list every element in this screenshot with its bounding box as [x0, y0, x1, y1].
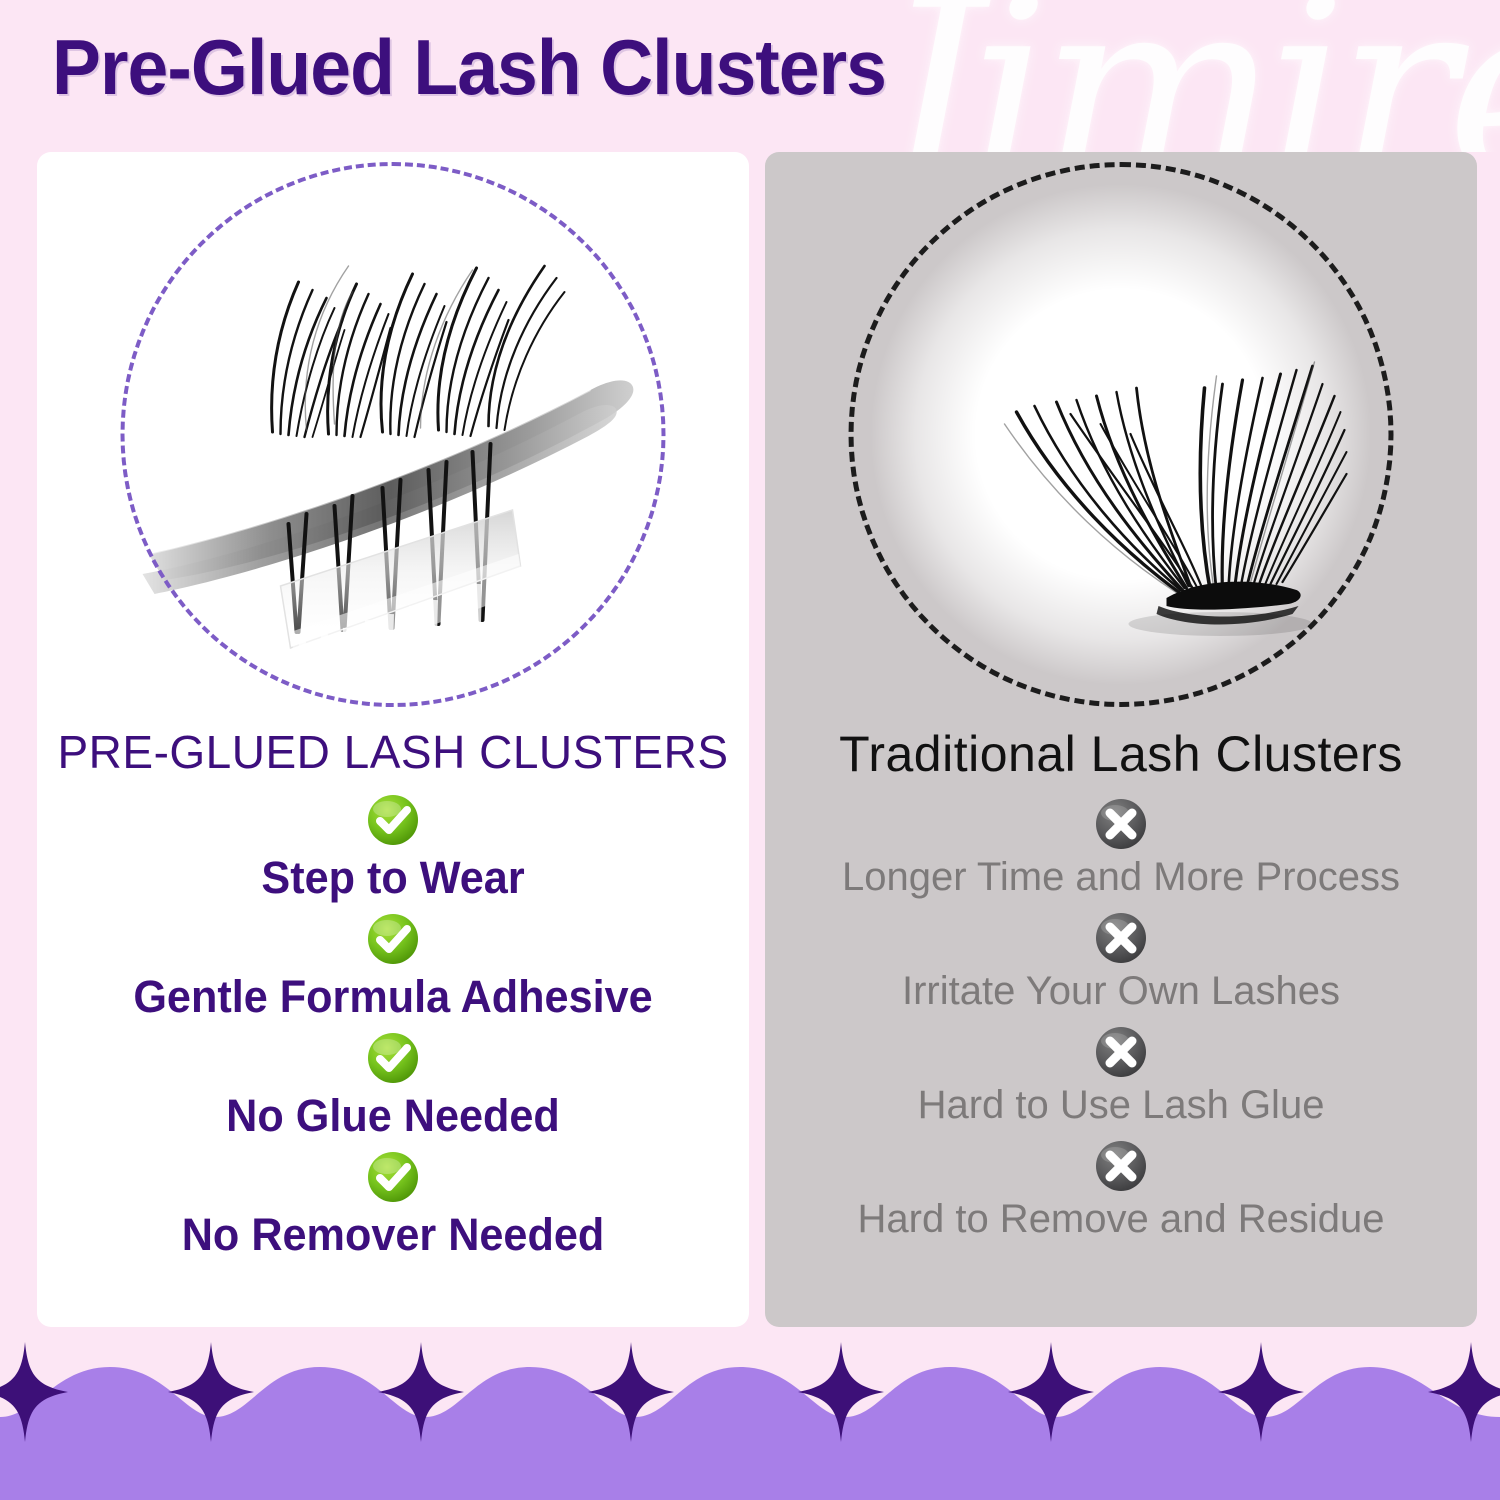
- sparkle-icon: [1008, 1342, 1094, 1442]
- panel-pre-glued: PRE-GLUED LASH CLUSTERS Step to Wear: [37, 152, 749, 1327]
- brand-wordmark: Jimire: [880, 0, 1500, 152]
- drawback-label: Longer Time and More Process: [765, 856, 1477, 898]
- header: Jimire Pre-Glued Lash Clusters: [0, 0, 1500, 152]
- check-circle-icon: [365, 1030, 421, 1086]
- product-comparison-infographic: Jimire Pre-Glued Lash Clusters: [0, 0, 1500, 1500]
- bottom-wave-band: [0, 1325, 1500, 1500]
- drawback-row: Hard to Remove and Residue: [765, 1138, 1477, 1240]
- cross-circle-icon: [1093, 1024, 1149, 1080]
- sparkle-icon: [1428, 1342, 1500, 1442]
- benefit-label: No Remover Needed: [51, 1211, 735, 1258]
- check-circle-icon: [365, 792, 421, 848]
- sparkle-icon: [798, 1342, 884, 1442]
- pre-glued-media: [121, 162, 666, 707]
- check-circle-icon: [365, 911, 421, 967]
- panel-traditional: Traditional Lash Clusters Longer Time an: [765, 152, 1477, 1327]
- sparkle-icon: [1218, 1342, 1304, 1442]
- traditional-heading: Traditional Lash Clusters: [765, 727, 1477, 782]
- benefit-label: Gentle Formula Adhesive: [51, 973, 735, 1020]
- benefit-row: Gentle Formula Adhesive: [37, 911, 749, 1020]
- drawback-label: Irritate Your Own Lashes: [765, 970, 1477, 1012]
- check-circle-icon: [365, 1149, 421, 1205]
- benefit-label: No Glue Needed: [51, 1092, 735, 1139]
- sparkle-icon: [378, 1342, 464, 1442]
- sparkle-icon: [168, 1342, 254, 1442]
- traditional-media: [849, 162, 1394, 707]
- benefit-row: No Glue Needed: [37, 1030, 749, 1139]
- benefit-label: Step to Wear: [51, 854, 735, 901]
- cross-circle-icon: [1093, 796, 1149, 852]
- dashed-circle-black: [849, 162, 1394, 707]
- drawback-label: Hard to Use Lash Glue: [765, 1084, 1477, 1126]
- sparkle-icon: [588, 1342, 674, 1442]
- pre-glued-benefit-list: PRE-GLUED LASH CLUSTERS Step to Wear: [37, 727, 749, 1259]
- dashed-circle-purple: [121, 162, 666, 707]
- cross-circle-icon: [1093, 1138, 1149, 1194]
- traditional-drawback-list: Traditional Lash Clusters Longer Time an: [765, 727, 1477, 1240]
- drawback-row: Irritate Your Own Lashes: [765, 910, 1477, 1012]
- sparkle-icon: [0, 1342, 68, 1442]
- drawback-row: Hard to Use Lash Glue: [765, 1024, 1477, 1126]
- drawback-row: Longer Time and More Process: [765, 796, 1477, 898]
- drawback-label: Hard to Remove and Residue: [765, 1198, 1477, 1240]
- benefit-row: Step to Wear: [37, 792, 749, 901]
- benefit-row: No Remover Needed: [37, 1149, 749, 1258]
- page-title: Pre-Glued Lash Clusters: [52, 22, 886, 113]
- pre-glued-heading: PRE-GLUED LASH CLUSTERS: [37, 727, 749, 778]
- cross-circle-icon: [1093, 910, 1149, 966]
